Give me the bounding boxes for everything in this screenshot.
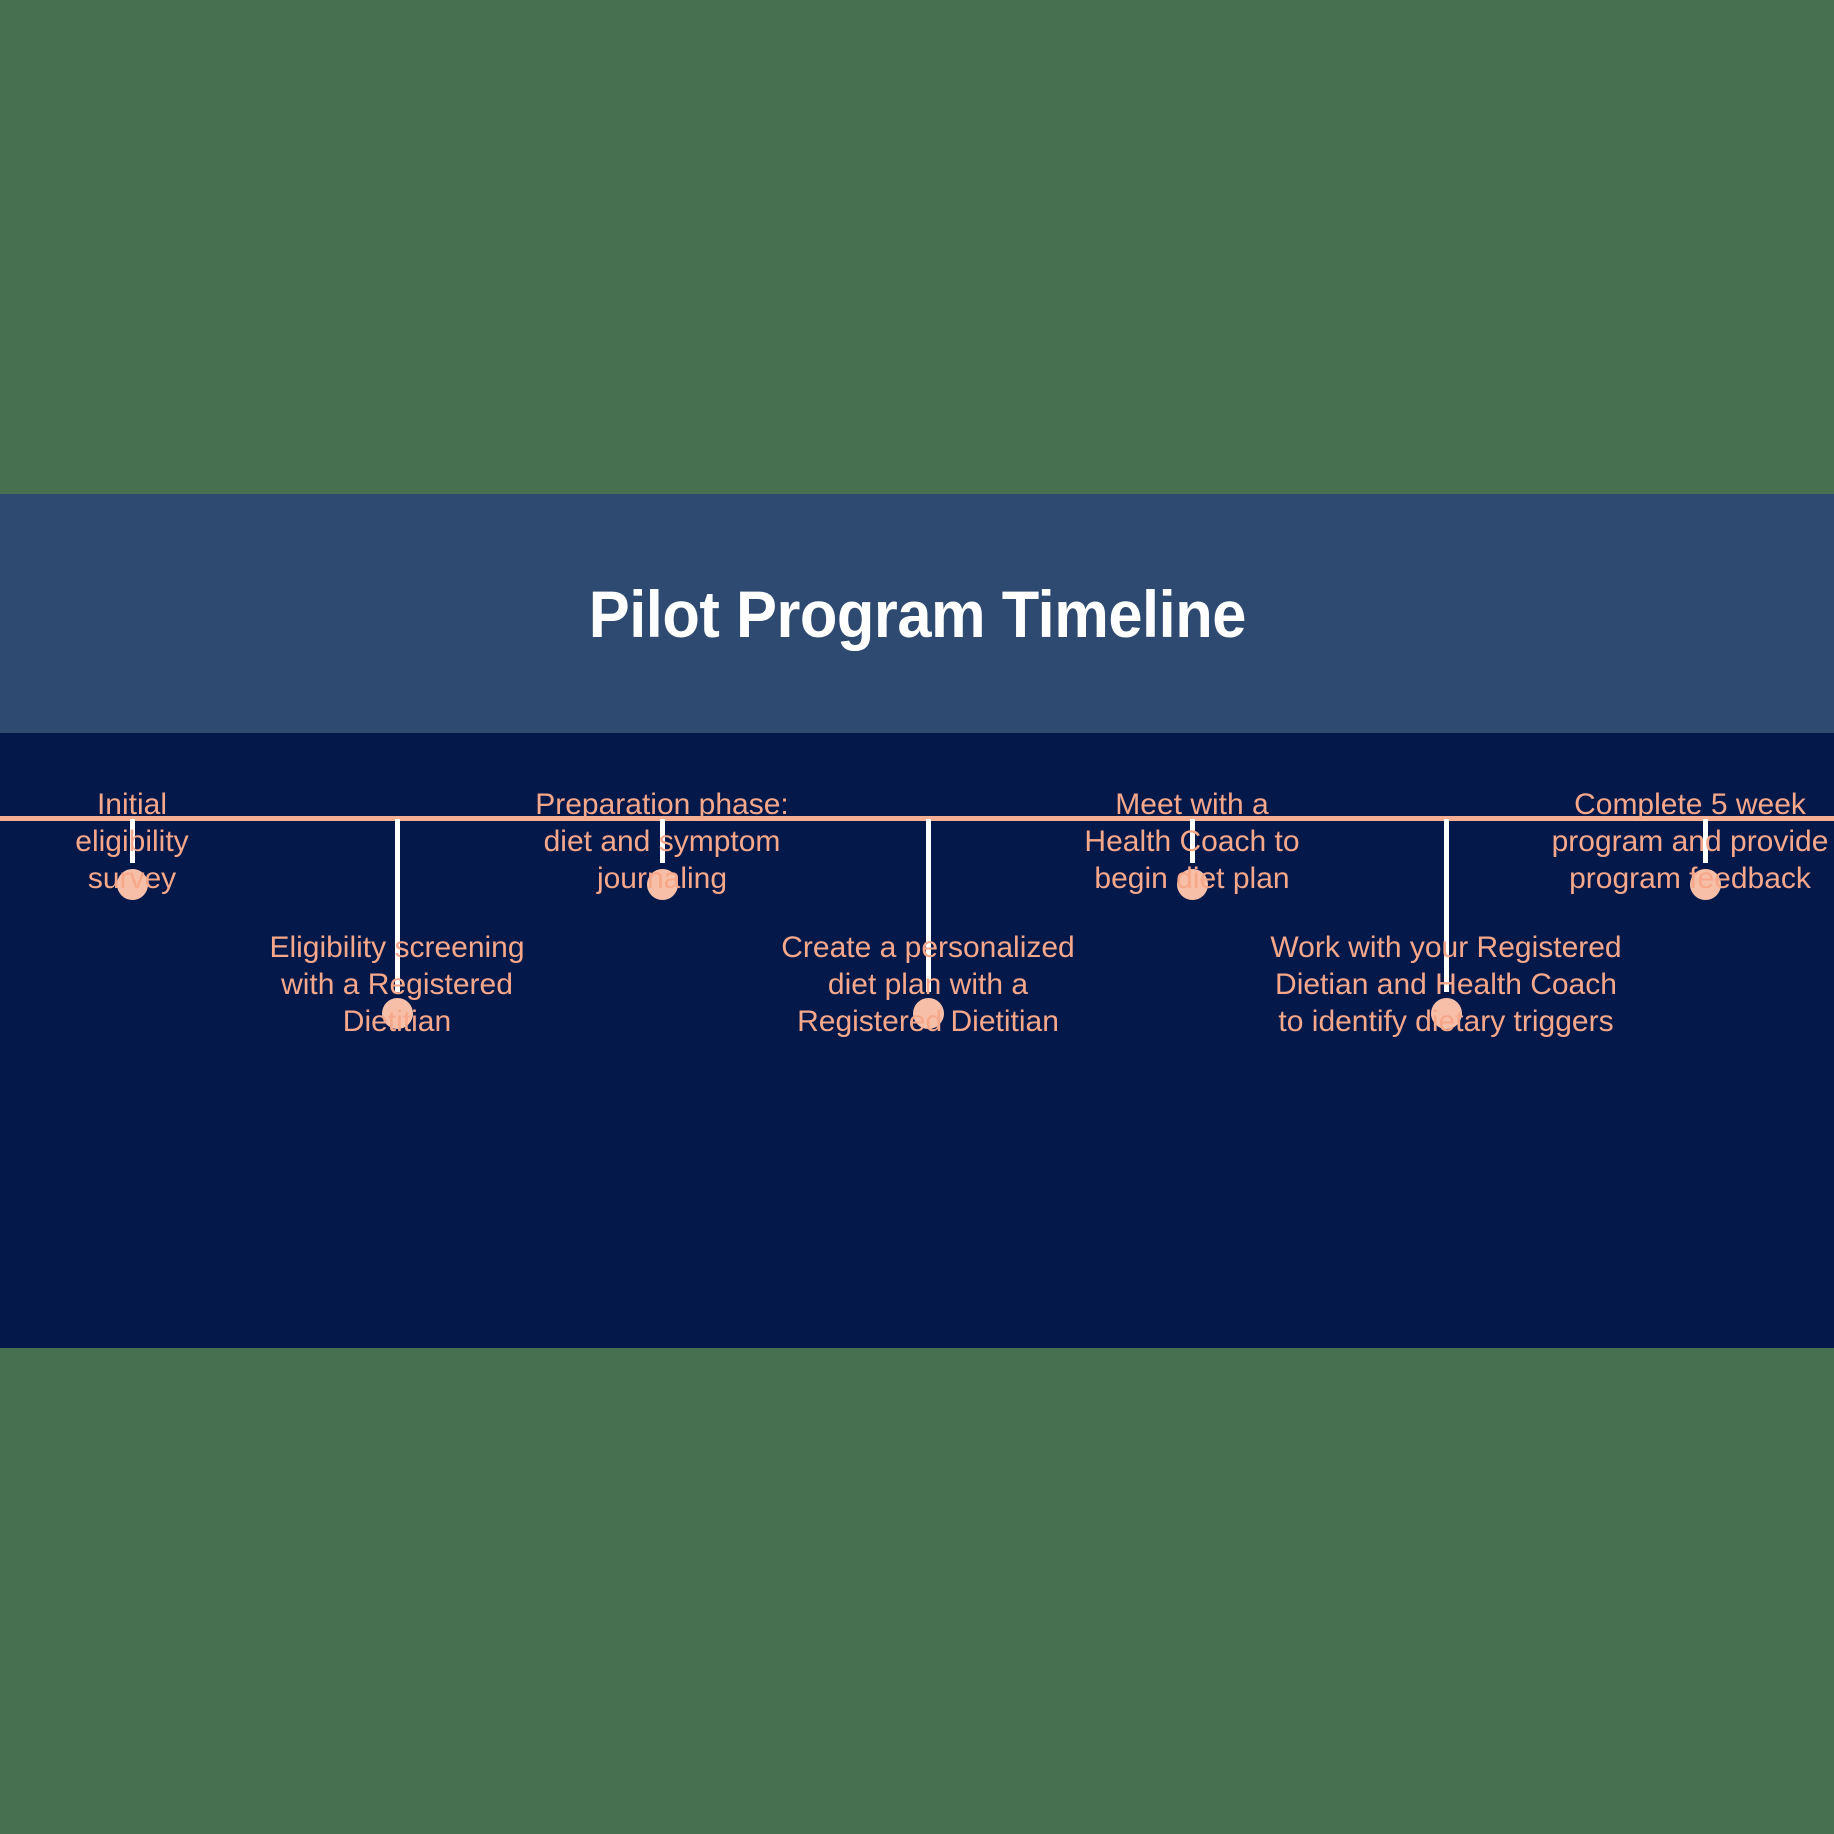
header-band: Pilot Program Timeline [0, 494, 1834, 733]
page-title: Pilot Program Timeline [588, 581, 1245, 647]
timeline-card: Pilot Program Timeline Initial eligibili… [0, 494, 1834, 1348]
milestone-label-7: Complete 5 week program and provide prog… [1510, 786, 1834, 897]
milestone-label-5: Meet with a Health Coach to begin diet p… [1042, 786, 1342, 897]
milestone-label-2: Eligibility screening with a Registered … [227, 929, 567, 1040]
milestone-label-4: Create a personalized diet plan with a R… [738, 929, 1118, 1040]
milestone-label-1: Initial eligibility survey [22, 786, 242, 897]
milestone-label-3: Preparation phase: diet and symptom jour… [492, 786, 832, 897]
milestone-label-6: Work with your Registered Dietian and He… [1226, 929, 1666, 1040]
